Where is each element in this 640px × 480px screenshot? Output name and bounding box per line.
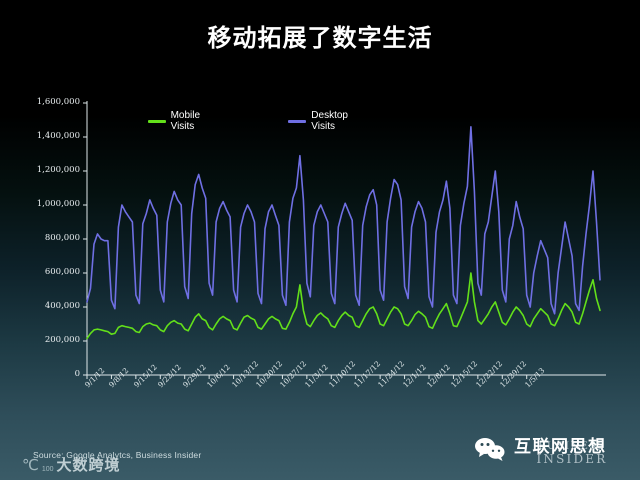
visits-line-chart: 0200,000400,000600,000800,0001,000,0001,… xyxy=(0,0,640,480)
legend-swatch-desktop xyxy=(288,120,306,123)
brand-cn-label: 互联网思想 xyxy=(514,432,607,457)
y-axis-tick-label: 1,400,000 xyxy=(37,131,80,141)
y-axis-tick-label: 1,000,000 xyxy=(37,199,80,209)
watermark-left: ℃ 100 大数跨境 xyxy=(22,458,121,473)
y-axis-tick-label: 400,000 xyxy=(45,301,80,311)
watermark-text: 大数跨境 xyxy=(57,458,121,473)
series-line-desktop-visits xyxy=(87,127,600,314)
y-axis-tick-label: 1,600,000 xyxy=(37,97,80,107)
y-axis-tick-label: 1,200,000 xyxy=(37,165,80,175)
brand-block: BUSINESS INSIDER 互联网思想 xyxy=(470,428,630,474)
legend-label-desktop: Desktop Visits xyxy=(311,110,355,132)
y-axis-tick-label: 0 xyxy=(75,369,80,379)
legend-swatch-mobile xyxy=(148,120,166,123)
chart-svg xyxy=(0,0,640,480)
slide-canvas: 移动拓展了数字生活 0200,000400,000600,000800,0001… xyxy=(0,0,640,480)
y-axis-tick-label: 800,000 xyxy=(45,233,80,243)
watermark-sup: 100 xyxy=(42,466,54,473)
watermark-mark: ℃ xyxy=(22,458,39,473)
legend-label-mobile: Mobile Visits xyxy=(171,110,209,132)
legend-item-mobile: Mobile Visits xyxy=(148,113,208,129)
wechat-icon xyxy=(474,436,508,462)
legend-item-desktop: Desktop Visits xyxy=(288,113,356,129)
y-axis-tick-label: 200,000 xyxy=(45,335,80,345)
y-axis-tick-label: 600,000 xyxy=(45,267,80,277)
